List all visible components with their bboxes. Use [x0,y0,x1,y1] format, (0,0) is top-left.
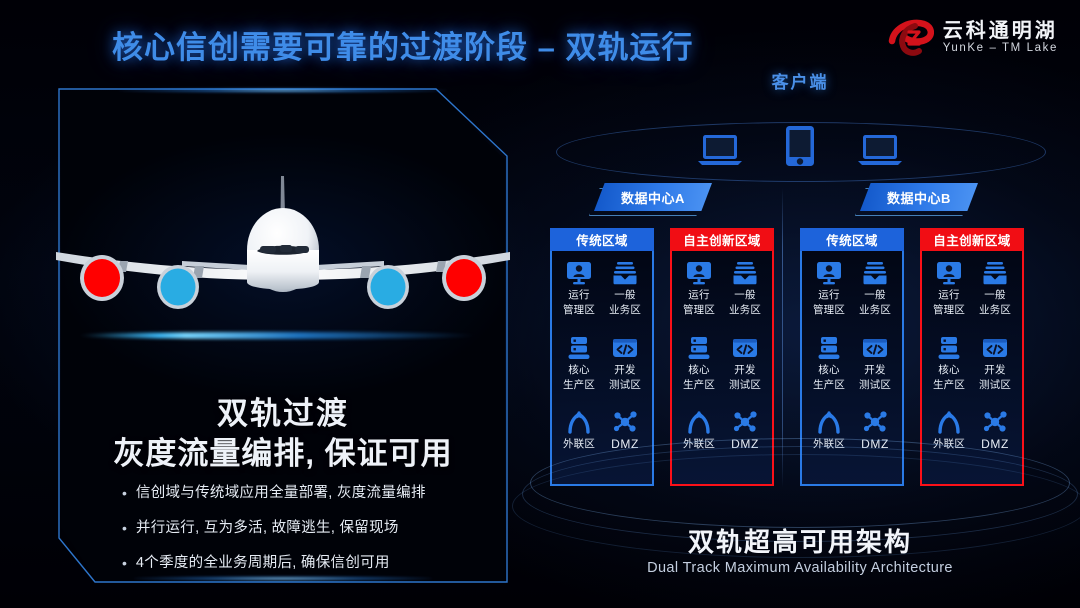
crossing-arrows-icon [935,409,963,435]
code-window-icon [862,335,888,361]
zone-label-line1: 一般 [614,289,635,301]
zone-label-line2: 管理区 [933,304,965,316]
zone-cell-dev-test[interactable]: 开发 测试区 [602,335,648,410]
zone-cell-ops-mgmt[interactable]: 运行 管理区 [676,260,722,335]
zone-label-line1: 外联区 [563,438,595,450]
data-center-b-banner[interactable]: 数据中心B [860,183,978,211]
data-center-b-label: 数据中心B [887,188,951,207]
zone-label-line1: 核心 [568,364,589,376]
zone-label-line1: 运行 [818,289,839,301]
zone-label-line1: 一般 [734,289,755,301]
monitor-user-icon [566,260,592,286]
zone-column-header: 传统区域 [550,228,654,251]
server-stack-icon [686,335,712,361]
inbox-tray-icon [732,260,758,286]
list-item-text: 4个季度的全业务周期后, 确保信创可用 [136,553,390,573]
list-item: • 4个季度的全业务周期后, 确保信创可用 [122,553,502,573]
left-content-panel: 双轨过渡 灰度流量编排, 保证可用 • 信创域与传统域应用全量部署, 灰度流量编… [58,88,508,583]
zone-column-header: 传统区域 [800,228,904,251]
server-stack-icon [936,335,962,361]
panel-bottom-glow [133,576,433,581]
bullet-marker-icon: • [122,518,127,538]
architecture-title-en: Dual Track Maximum Availability Architec… [520,560,1080,576]
crossing-arrows-icon [685,409,713,435]
zone-label-line2: 测试区 [729,379,761,391]
architecture-diagram: 客户端 [520,60,1080,608]
zone-label-line1: 开发 [984,364,1005,376]
zone-label-line1: 运行 [568,289,589,301]
monitor-user-icon [686,260,712,286]
zone-label-line2: 管理区 [683,304,715,316]
code-window-icon [982,335,1008,361]
crossing-arrows-icon [565,409,593,435]
zone-cell-general-biz[interactable]: 一般 业务区 [852,260,898,335]
zone-label-line2: 业务区 [729,304,761,316]
zone-label-line1: 运行 [938,289,959,301]
zone-cell-dev-test[interactable]: 开发 测试区 [722,335,768,410]
zone-column-header: 自主创新区域 [920,228,1024,251]
zone-label-line2: 管理区 [813,304,845,316]
zone-cell-general-biz[interactable]: 一般 业务区 [972,260,1018,335]
code-window-icon [732,335,758,361]
list-item-text: 并行运行, 互为多活, 故障逃生, 保留现场 [136,518,399,538]
left-bullet-list: • 信创域与传统域应用全量部署, 灰度流量编排 • 并行运行, 互为多活, 故障… [122,483,502,588]
data-center-a-banner[interactable]: 数据中心A [594,183,712,211]
bullet-marker-icon: • [122,553,127,573]
zone-label-line2: 业务区 [609,304,641,316]
server-stack-icon [816,335,842,361]
panel-top-glow [118,88,448,93]
banner-shape: 数据中心A [594,183,712,211]
zone-label-line2: 管理区 [563,304,595,316]
zone-label-line2: 生产区 [933,379,965,391]
zone-cell-ops-mgmt[interactable]: 运行 管理区 [806,260,852,335]
swoosh-logo-icon [888,18,934,58]
inbox-tray-icon [862,260,888,286]
network-node-icon [861,409,889,435]
left-headline-primary: 双轨过渡 [58,388,508,433]
zone-cell-ops-mgmt[interactable]: 运行 管理区 [556,260,602,335]
laptop-icon [697,133,743,172]
zone-label-line1: 核心 [818,364,839,376]
zone-cell-dev-test[interactable]: 开发 测试区 [852,335,898,410]
server-stack-icon [566,335,592,361]
zone-cell-general-biz[interactable]: 一般 业务区 [602,260,648,335]
architecture-title-cn: 双轨超高可用架构 [520,522,1080,559]
client-device-group [520,112,1080,172]
tablet-icon [785,125,815,172]
banner-shape: 数据中心B [860,183,978,211]
zone-label-line1: 一般 [864,289,885,301]
zone-label-line2: 业务区 [859,304,891,316]
network-node-icon [981,409,1009,435]
zone-label-line1: 一般 [984,289,1005,301]
logo-name-cn: 云科通明湖 [943,21,1058,41]
network-node-icon [611,409,639,435]
zone-label-line1: 开发 [864,364,885,376]
inbox-tray-icon [982,260,1008,286]
zone-label-line1: 核心 [938,364,959,376]
brand-logo: 云科通明湖 YunKe – TM Lake [888,18,1058,58]
data-center-a-label: 数据中心A [621,188,685,207]
panel-mid-glow [78,332,478,339]
zone-label-line2: 测试区 [859,379,891,391]
zone-label-line2: 生产区 [813,379,845,391]
zone-cell-general-biz[interactable]: 一般 业务区 [722,260,768,335]
slide-canvas: 核心信创需要可靠的过渡阶段 – 双轨运行 云科通明湖 YunKe – TM La… [0,0,1080,608]
laptop-icon [857,133,903,172]
crossing-arrows-icon [815,409,843,435]
list-item-text: 信创域与传统域应用全量部署, 灰度流量编排 [136,483,426,503]
zone-label-line1: 开发 [614,364,635,376]
zone-cell-ops-mgmt[interactable]: 运行 管理区 [926,260,972,335]
zone-label-line1: DMZ [981,438,1009,450]
zone-cell-core-prod[interactable]: 核心 生产区 [926,335,972,410]
network-node-icon [731,409,759,435]
zone-label-line1: 开发 [734,364,755,376]
logo-name-en: YunKe – TM Lake [943,43,1058,55]
zone-label-line1: 核心 [688,364,709,376]
zone-label-line2: 业务区 [979,304,1011,316]
list-item: • 并行运行, 互为多活, 故障逃生, 保留现场 [122,518,502,538]
zone-cell-core-prod[interactable]: 核心 生产区 [676,335,722,410]
monitor-user-icon [816,260,842,286]
airplane-image [54,166,512,356]
zone-label-line2: 测试区 [979,379,1011,391]
zone-label-line2: 生产区 [563,379,595,391]
logo-text-block: 云科通明湖 YunKe – TM Lake [943,21,1058,55]
zone-cell-dev-test[interactable]: 开发 测试区 [972,335,1018,410]
client-tier-label: 客户端 [520,68,1080,93]
zone-label-line2: 测试区 [609,379,641,391]
inbox-tray-icon [612,260,638,286]
monitor-user-icon [936,260,962,286]
zone-label-line2: 生产区 [683,379,715,391]
zone-column-header: 自主创新区域 [670,228,774,251]
code-window-icon [612,335,638,361]
zone-label-line1: 运行 [688,289,709,301]
list-item: • 信创域与传统域应用全量部署, 灰度流量编排 [122,483,502,503]
bullet-marker-icon: • [122,483,127,503]
zone-cell-core-prod[interactable]: 核心 生产区 [556,335,602,410]
zone-cell-core-prod[interactable]: 核心 生产区 [806,335,852,410]
left-headline-secondary: 灰度流量编排, 保证可用 [58,428,508,473]
